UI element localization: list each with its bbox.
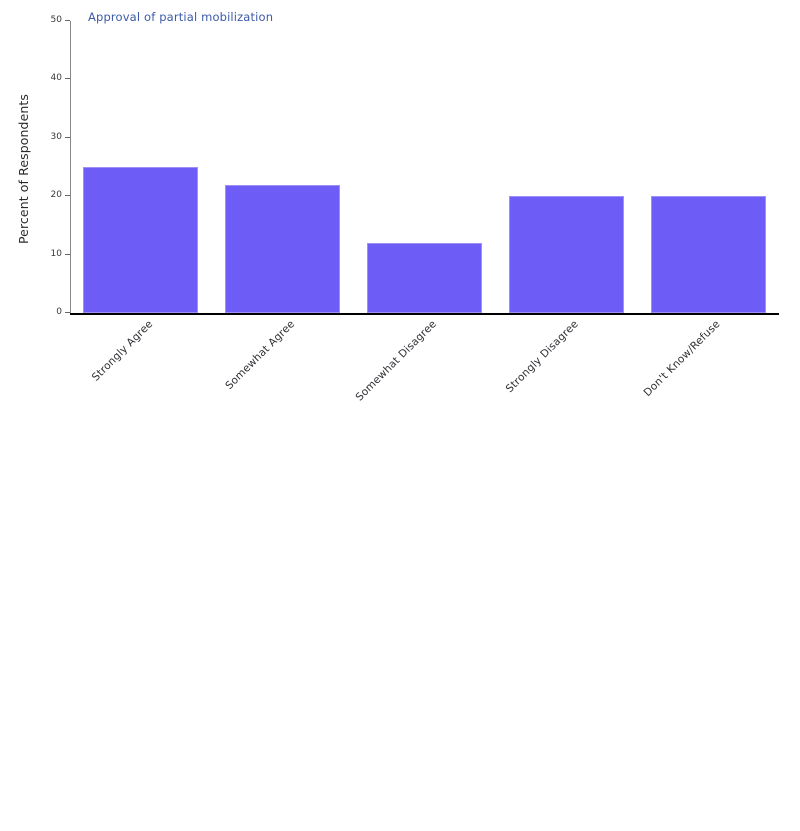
y-tick-label: 20 (51, 189, 62, 202)
bar-chart: Approval of partial mobilization Percent… (0, 0, 800, 422)
x-tick-label: Strongly Agree (43, 318, 155, 430)
y-tick-label: 50 (51, 14, 62, 27)
bars-group (70, 21, 779, 313)
y-tick-label: 40 (51, 72, 62, 85)
bar[interactable] (509, 196, 624, 313)
bar[interactable] (367, 243, 482, 313)
y-axis-title: Percent of Respondents (6, 14, 40, 324)
y-tick-label: 0 (56, 306, 62, 319)
x-tick-label: Don't Know/Refuse (209, 318, 722, 831)
bar[interactable] (83, 167, 198, 313)
y-tick-label: 30 (51, 131, 62, 144)
bar[interactable] (225, 185, 340, 313)
bar[interactable] (651, 196, 766, 313)
x-tick-label: Somewhat Disagree (126, 318, 439, 631)
x-axis-spine (70, 313, 779, 315)
y-tick-label: 10 (51, 248, 62, 261)
